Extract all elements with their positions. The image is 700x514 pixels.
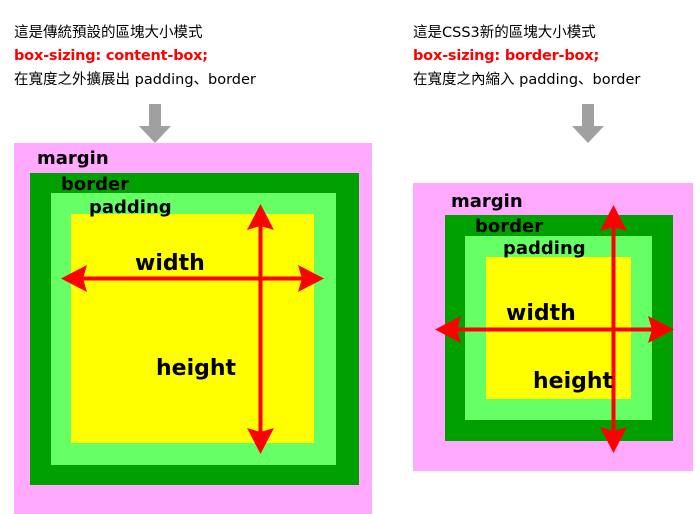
margin-label: margin [451, 193, 523, 211]
box-model-diagram-content-box: margin border padding width height [14, 143, 372, 514]
height-label: height [156, 358, 236, 380]
caption-right-code: box-sizing: border-box; [413, 45, 640, 68]
width-label: width [135, 253, 205, 275]
caption-border-box: 這是CSS3新的區塊大小模式 box-sizing: border-box; 在… [413, 22, 640, 92]
caption-right-line3: 在寬度之內縮入 padding、border [413, 69, 640, 92]
caption-right-line1: 這是CSS3新的區塊大小模式 [413, 22, 640, 45]
double-headed-vertical-arrow-icon [238, 204, 283, 454]
arrow-down-icon [138, 104, 172, 144]
box-model-diagram-border-box: margin border padding width height [413, 183, 693, 471]
padding-label: padding [89, 199, 172, 217]
height-label: height [533, 371, 613, 393]
border-label: border [475, 218, 543, 236]
caption-left-line3: 在寬度之外擴展出 padding、border [14, 69, 256, 92]
caption-left-line1: 這是傳統預設的區塊大小模式 [14, 22, 256, 45]
caption-content-box: 這是傳統預設的區塊大小模式 box-sizing: content-box; 在… [14, 22, 256, 92]
padding-label: padding [503, 240, 586, 258]
width-label: width [506, 303, 576, 325]
caption-left-code: box-sizing: content-box; [14, 45, 256, 68]
margin-label: margin [37, 150, 109, 168]
border-label: border [61, 176, 129, 194]
double-headed-vertical-arrow-icon [591, 205, 636, 453]
arrow-down-icon [571, 104, 605, 144]
